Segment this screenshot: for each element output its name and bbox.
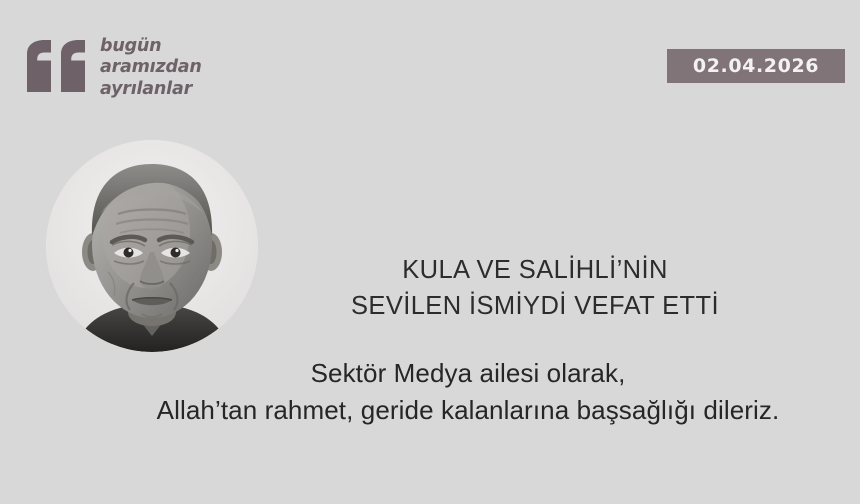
headline: KULA VE SALİHLİ’NİN SEVİLEN İSMİYDİ VEFA… — [290, 252, 780, 324]
brand-logo-line-3: ayrılanlar — [100, 79, 202, 100]
headline-line-1: KULA VE SALİHLİ’NİN — [290, 252, 780, 288]
brand-logo: bugün aramızdan ayrılanlar — [22, 36, 202, 100]
condolence-line-1: Sektör Medya ailesi olarak, — [108, 355, 828, 392]
condolence-line-2: Allah’tan rahmet, geride kalanlarına baş… — [108, 392, 828, 429]
brand-logo-text: bugün aramızdan ayrılanlar — [100, 36, 202, 100]
memorial-card: bugün aramızdan ayrılanlar 02.04.2026 — [0, 0, 860, 504]
headline-line-2: SEVİLEN İSMİYDİ VEFAT ETTİ — [290, 288, 780, 324]
double-quote-icon — [22, 40, 88, 92]
condolence-message: Sektör Medya ailesi olarak, Allah’tan ra… — [108, 355, 828, 429]
brand-logo-line-2: aramızdan — [100, 57, 202, 78]
brand-logo-line-1: bugün — [100, 36, 202, 57]
portrait-photo — [46, 140, 258, 352]
date-badge-text: 02.04.2026 — [693, 55, 819, 77]
date-badge: 02.04.2026 — [667, 49, 845, 83]
